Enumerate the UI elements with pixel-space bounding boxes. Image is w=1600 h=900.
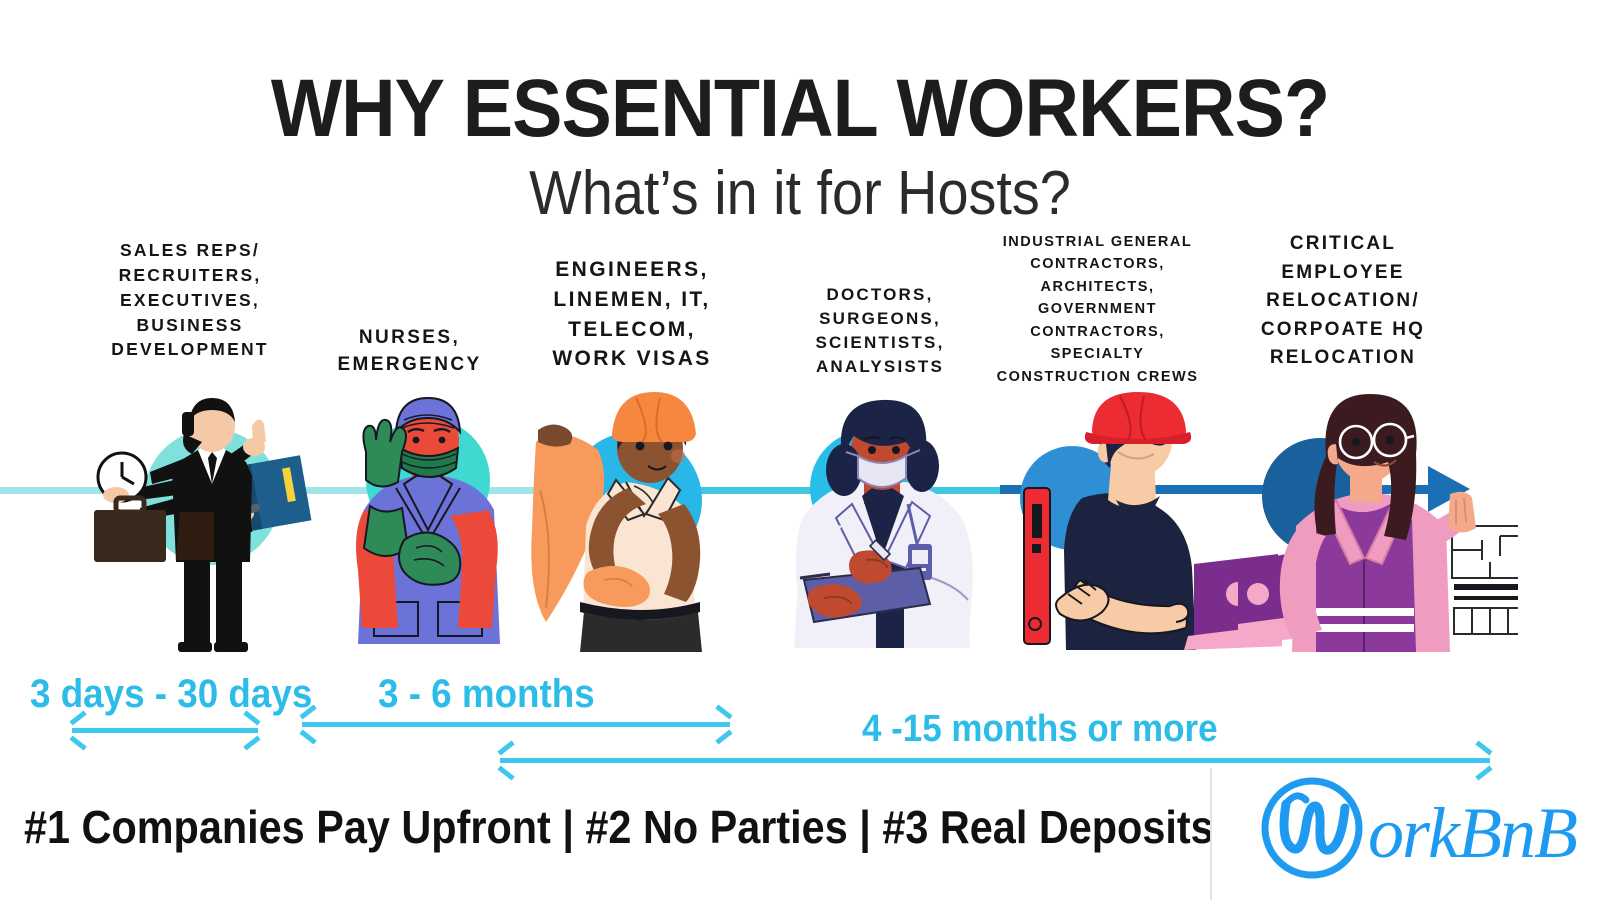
category-line: CONTRACTORS, <box>990 321 1205 343</box>
category-line: LINEMEN, IT, <box>522 285 742 315</box>
category-label-doctors: DOCTORS, SURGEONS, SCIENTISTS, ANALYSIST… <box>780 283 980 380</box>
category-line: CONTRACTORS, <box>990 253 1205 275</box>
duration-arrow-medium-icon <box>302 722 730 727</box>
duration-arrow-long-icon <box>500 758 1490 763</box>
category-line: CONSTRUCTION CREWS <box>990 366 1205 388</box>
category-line: NURSES, <box>312 325 507 352</box>
footer-tagline: #1 Companies Pay Upfront | #2 No Parties… <box>24 800 1214 854</box>
category-line: EMPLOYEE <box>1238 259 1448 288</box>
infographic-canvas: WHY ESSENTIAL WORKERS? What’s in it for … <box>0 0 1600 900</box>
category-line: EXECUTIVES, <box>60 288 320 313</box>
category-line: ANALYSISTS <box>780 355 980 379</box>
duration-arrow-short-icon <box>72 728 258 733</box>
category-line: BUSINESS <box>60 313 320 338</box>
category-line: SALES REPS/ <box>60 238 320 263</box>
category-label-contractors: INDUSTRIAL GENERAL CONTRACTORS, ARCHITEC… <box>990 231 1205 388</box>
category-label-engineers: ENGINEERS, LINEMEN, IT, TELECOM, WORK VI… <box>522 255 742 374</box>
category-line: EMERGENCY <box>312 352 507 379</box>
category-line: DEVELOPMENT <box>60 337 320 362</box>
page-subtitle: What’s in it for Hosts? <box>80 158 1520 229</box>
category-line: GOVERNMENT <box>990 298 1205 320</box>
page-title: WHY ESSENTIAL WORKERS? <box>64 62 1536 156</box>
category-label-nurses: NURSES, EMERGENCY <box>312 325 507 379</box>
category-line: WORK VISAS <box>522 344 742 374</box>
w-circle-monogram-icon <box>1250 770 1380 890</box>
category-line: TELECOM, <box>522 315 742 345</box>
doctor-clipboard-icon <box>780 392 992 648</box>
category-line: SCIENTISTS, <box>780 331 980 355</box>
businessman-multitasking-icon <box>80 392 330 654</box>
category-line: CORPOATE HQ <box>1238 316 1448 345</box>
category-line: CRITICAL <box>1238 230 1448 259</box>
workbnb-logo[interactable]: orkBnB <box>1250 770 1590 890</box>
category-line: SPECIALTY <box>990 343 1205 365</box>
logo-divider <box>1210 768 1212 900</box>
architect-woman-laptop-icon <box>1238 386 1518 652</box>
engineer-hardhat-blueprint-icon <box>508 390 760 652</box>
category-line: RELOCATION/ <box>1238 287 1448 316</box>
nurse-gloves-icon <box>330 392 522 644</box>
category-line: DOCTORS, <box>780 283 980 307</box>
category-label-critical-employee: CRITICAL EMPLOYEE RELOCATION/ CORPOATE H… <box>1238 230 1448 373</box>
category-label-sales-reps: SALES REPS/ RECRUITERS, EXECUTIVES, BUSI… <box>60 238 320 362</box>
duration-label-short: 3 days - 30 days <box>30 672 312 717</box>
logo-wordmark: orkBnB <box>1368 792 1576 875</box>
category-line: ARCHITECTS, <box>990 276 1205 298</box>
duration-label-long: 4 -15 months or more <box>862 708 1218 751</box>
category-line: SURGEONS, <box>780 307 980 331</box>
category-line: ENGINEERS, <box>522 255 742 285</box>
category-line: RECRUITERS, <box>60 263 320 288</box>
duration-label-medium: 3 - 6 months <box>378 672 595 717</box>
category-line: INDUSTRIAL GENERAL <box>990 231 1205 253</box>
category-line: RELOCATION <box>1238 344 1448 373</box>
